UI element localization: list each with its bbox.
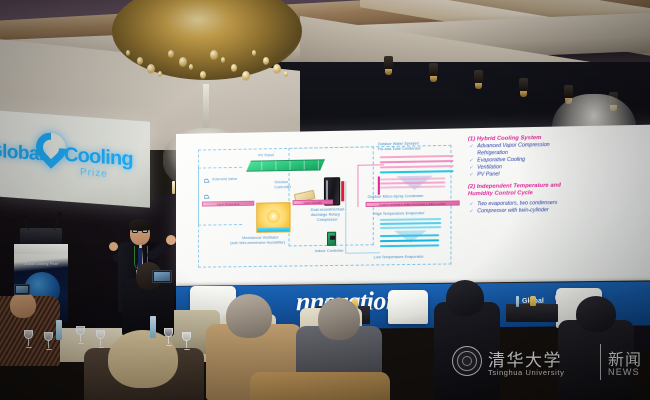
chandelier-candle [172,181,175,194]
crystal-drop [179,57,187,67]
spotlight-2 [429,63,438,83]
label-pv-panel: PV Panel [258,153,274,158]
wine-glass-2 [44,332,53,350]
projection-screen: PV Panel ⏢ ⏢ Solenoid Valve Outdoor Cont… [176,125,650,286]
watermark: 清华大学 Tsinghua University 新闻 NEWS [452,342,648,386]
spotlight-1 [384,56,393,76]
chandelier-stem [203,84,209,130]
label-fin-and-tube: Fin-and-Tube Condenser [378,146,421,151]
presenter-hand-left [109,242,118,251]
magenta-bar-indoor-humidity: Indoor Humidity [293,199,334,205]
condenser-inlet-line [378,176,380,194]
audience-hand-left [10,292,36,318]
crystal-drop [168,50,174,58]
crystal-drop [231,64,237,72]
crystal-drop [221,57,225,63]
audience-head-silhouette-1 [446,280,484,316]
crystal-drop [137,57,143,65]
label-indoor-controller: Indoor Controller [315,249,344,254]
crystal-drop [263,57,269,65]
global-cooling-prize-logo-large: Global Cooling Prize [0,124,148,193]
wine-glass-1 [24,330,33,348]
label-low-temp-evaporator: Low Temperature Evaporator [374,255,424,260]
fin-tube-condenser-coil [380,155,454,177]
presenter-hand-right [166,235,176,245]
magenta-bar-indoor-temp: Indoor Temperature [202,201,254,207]
indoor-controller-graphic [327,232,336,246]
crystal-drop [147,64,155,74]
smartphone-2[interactable] [14,284,30,295]
crystal-drop [189,64,193,70]
label-compressor-3: Compressor [317,218,338,223]
crystal-drop [158,71,162,77]
micro-spray-condenser-coil [380,177,445,192]
label-ventilator-2: (with Wet-membrane Humidifier) [230,240,285,245]
wine-glass-3 [76,326,85,344]
smartphone-1[interactable] [152,270,172,283]
chandelier-gold [112,0,302,87]
water-bottle-table-2 [150,316,156,338]
crystal-drop [126,50,130,56]
slide-content: PV Panel ⏢ ⏢ Solenoid Valve Outdoor Cont… [176,125,650,286]
podium-logo-strip [14,244,68,254]
spotlight-4 [519,78,528,98]
magenta-bar-outdoor-radiant-text: Outdoor penetrating radiant and ambient … [367,201,459,205]
label-solenoid-valve: Solenoid Valve [212,177,237,182]
solenoid-valve-icon-1: ⏢ [204,177,210,184]
watermark-university-en: Tsinghua University [488,368,564,377]
conference-photo: Global Cooling Prize PV Panel ⏢ ⏢ [0,0,650,400]
wine-glass-4 [96,330,105,348]
crystal-drop [210,50,218,60]
watermark-news-en: NEWS [608,367,640,377]
mechanical-ventilator-graphic [256,202,290,233]
podium-top [20,228,62,244]
crystal-drop [284,71,288,77]
slide-text-panel: (1) Hybrid Cooling System Advanced Vapor… [468,133,650,275]
audience-head-silhouette-2 [576,296,616,332]
watermark-divider [600,344,601,380]
crystal-drop [273,64,281,74]
hot-gas-line [357,165,358,207]
crystal-drop [200,71,206,79]
label-outdoor-2: Controller [274,185,291,190]
wine-glass-5 [164,328,173,346]
crystal-drop [252,50,256,56]
low-temp-evaporator-coil [380,234,439,251]
tsinghua-seal-icon [452,346,482,376]
label-micro-spray-condenser: Outdoor Micro-Spray Condenser [368,194,424,199]
wine-glass-6 [182,332,191,350]
magenta-bar-indoor-humidity-text: Indoor Humidity [294,200,332,204]
audience-head-center [226,294,272,338]
magenta-bar-indoor-temp-text: Indoor Temperature [203,202,253,206]
crystal-drop [242,71,250,81]
compressor-discharge-port [341,181,344,201]
system-diagram: PV Panel ⏢ ⏢ Solenoid Valve Outdoor Cont… [180,132,476,282]
water-bottle-table-1 [56,320,62,340]
high-temp-evaporator-coil [380,218,441,231]
podium-label: Global Cooling Prize [18,262,64,266]
presenter-glasses [132,229,148,233]
audience-torso-front-tan [250,372,390,400]
label-outdoor-1: Outdoor [274,180,288,185]
logo-prize-text: Prize [80,167,108,180]
refrigerant-line-vertical [345,181,346,254]
pv-panel-graphic [246,159,325,171]
solenoid-valve-icon-2: ⏢ [204,193,210,200]
audience-head-right [318,298,360,340]
spotlight-3 [474,70,483,90]
label-high-temp-evaporator: High Temperature Evaporator [374,211,425,216]
